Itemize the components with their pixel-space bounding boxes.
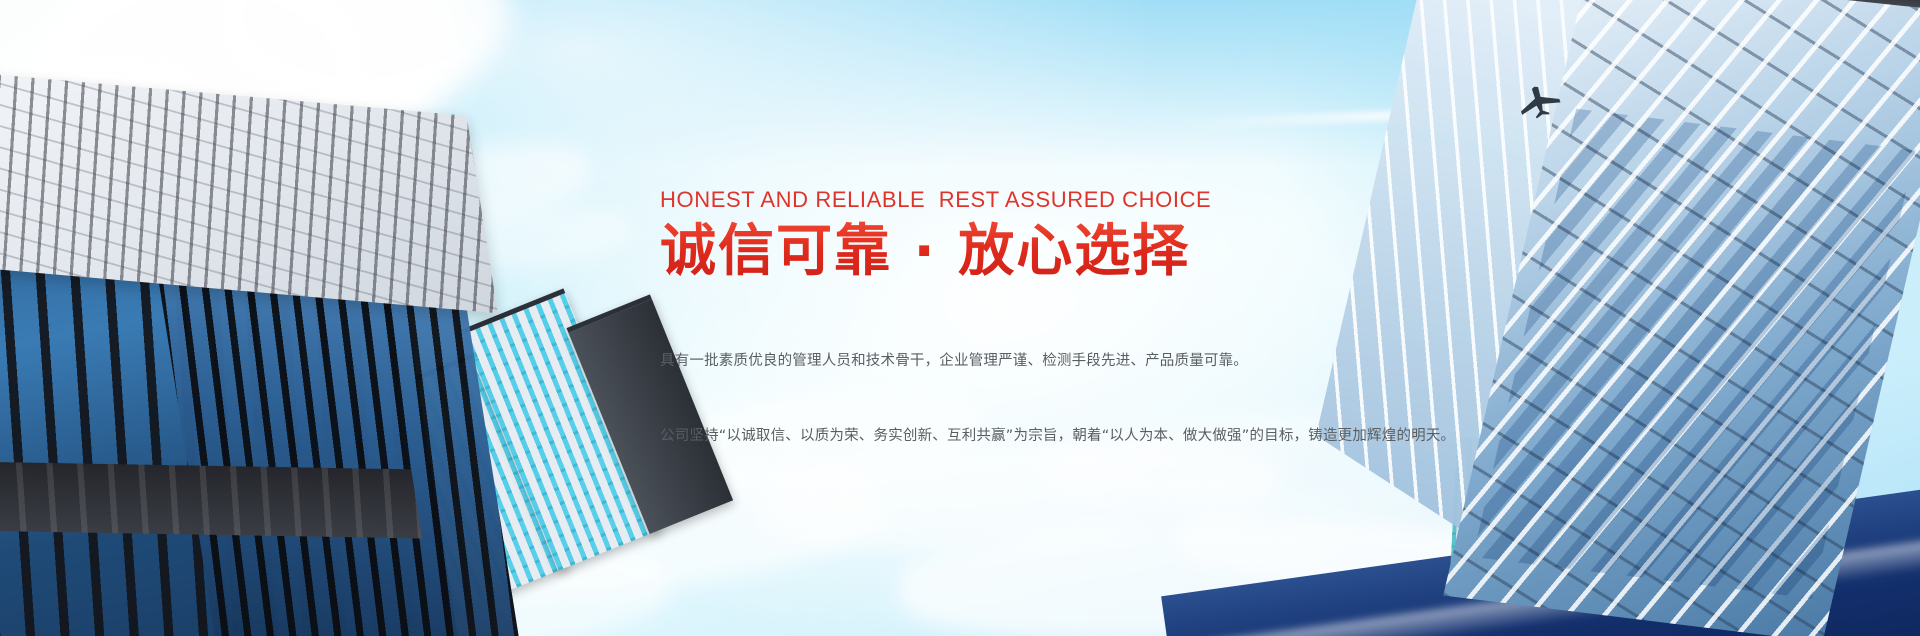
banner-copy: HONEST AND RELIABLE REST ASSURED CHOICE …: [660, 188, 1400, 499]
description-line-1: 具有一批素质优良的管理人员和技术骨干，企业管理严谨、检测手段先进、产品质量可靠。: [660, 349, 1400, 374]
hero-banner: HONEST AND RELIABLE REST ASSURED CHOICE …: [0, 0, 1920, 636]
description-line-2: 公司坚持“以诚取信、以质为荣、务实创新、互利共赢”为宗旨，朝着“以人为本、做大做…: [660, 424, 1400, 449]
page-title: 诚信可靠 · 放心选择: [660, 220, 1400, 284]
building-floor-band: [0, 460, 422, 539]
building-roof: [0, 60, 498, 313]
english-headline: HONEST AND RELIABLE REST ASSURED CHOICE: [660, 188, 1400, 212]
banner-description: 具有一批素质优良的管理人员和技术骨干，企业管理严谨、检测手段先进、产品质量可靠。…: [660, 299, 1400, 499]
right-skyscraper: [1316, 0, 1920, 636]
left-skyscraper: [0, 0, 562, 636]
